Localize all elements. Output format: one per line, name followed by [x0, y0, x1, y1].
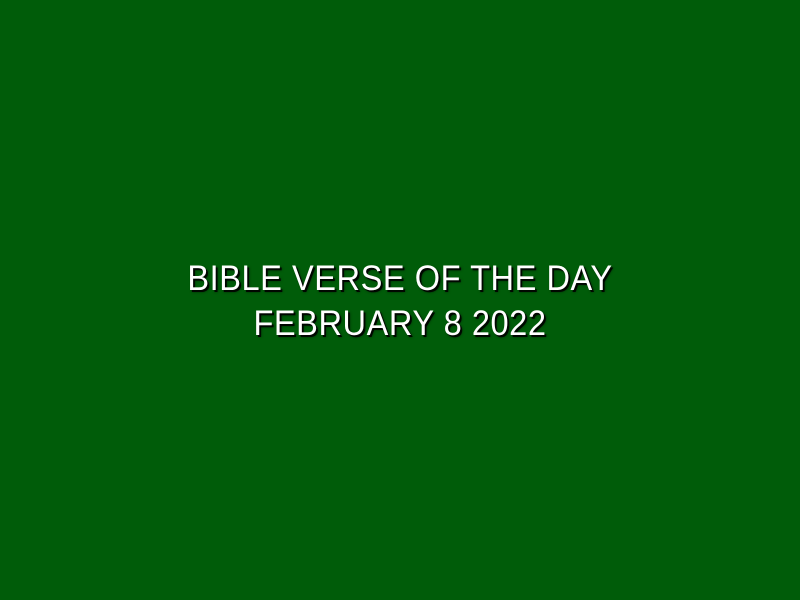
- title-card: BIBLE VERSE OF THE DAY FEBRUARY 8 2022: [0, 0, 800, 600]
- title-block: BIBLE VERSE OF THE DAY FEBRUARY 8 2022: [70, 256, 730, 346]
- page-title: BIBLE VERSE OF THE DAY FEBRUARY 8 2022: [93, 256, 707, 346]
